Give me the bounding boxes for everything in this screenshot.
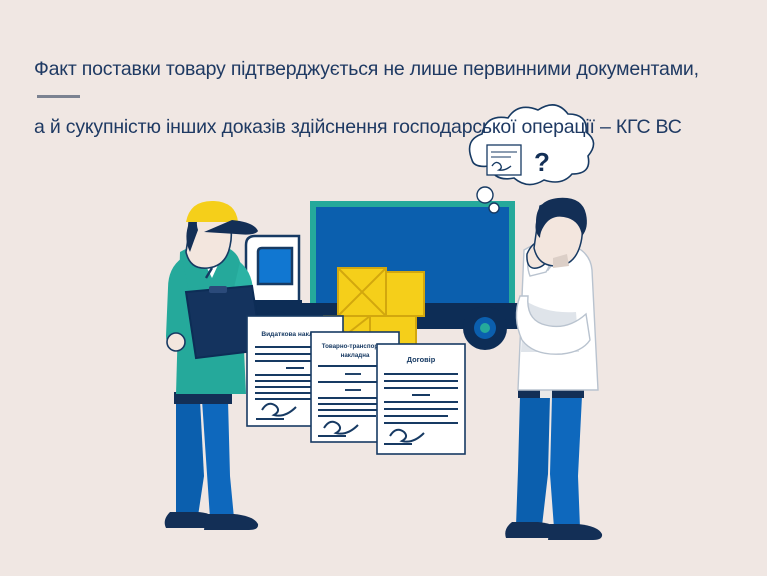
document-title: Договір — [407, 355, 436, 364]
page-title-line-1: Факт поставки товару підтверджується не … — [34, 55, 744, 84]
page-title: Факт поставки товару підтверджується не … — [34, 26, 744, 171]
document-title-line2: накладна — [341, 352, 370, 359]
poster-canvas: ? Видаткова накладна Товарно-транспортна… — [0, 0, 767, 576]
document-dogovir: Договір — [377, 344, 465, 454]
businessman-character — [505, 198, 602, 540]
title-underline-rule — [37, 95, 80, 98]
page-title-line-2: а й сукупністю інших доказів здійснення … — [34, 113, 744, 142]
